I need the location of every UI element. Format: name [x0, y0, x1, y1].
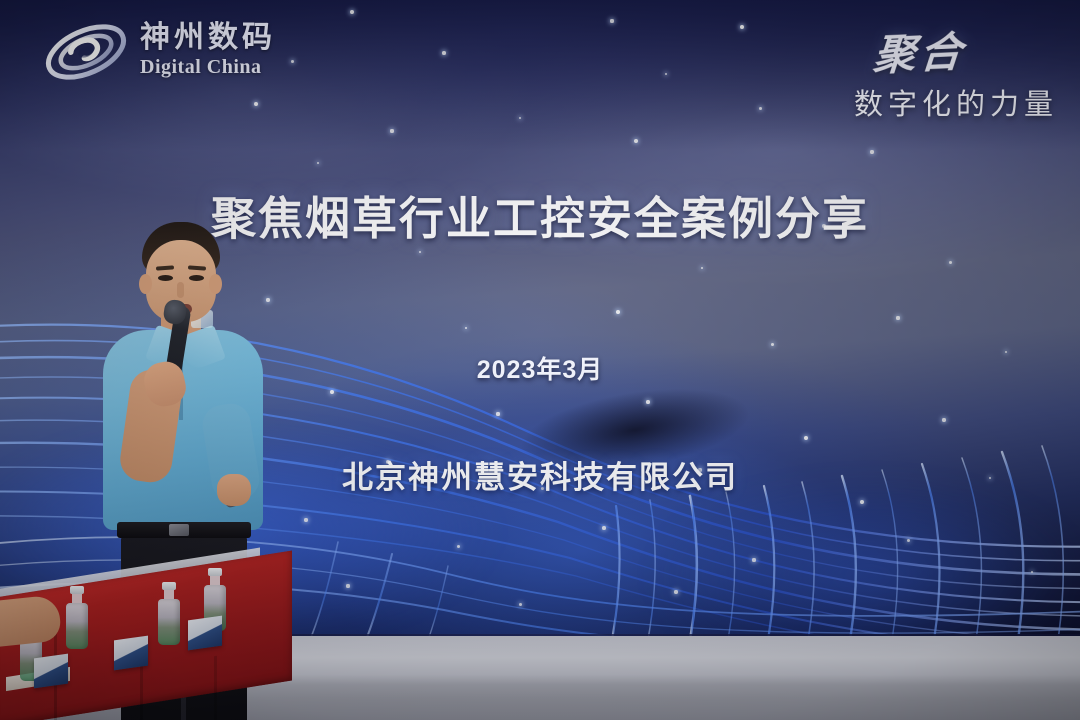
brand-logo: 神州数码 Digital China	[42, 16, 276, 88]
bottle-neck	[210, 576, 220, 585]
brand-name-en: Digital China	[140, 57, 276, 77]
light-particle	[759, 107, 762, 110]
digital-china-swirl-logo	[42, 16, 130, 88]
light-particle	[949, 261, 952, 264]
light-particle	[442, 51, 446, 55]
light-particle	[519, 117, 522, 120]
bottle-cap	[208, 568, 222, 576]
bottle-cap	[70, 586, 84, 594]
speaker-nose	[177, 282, 184, 298]
light-particle	[390, 129, 393, 132]
light-particle	[701, 267, 704, 270]
bottle-neck	[164, 590, 174, 599]
speaker-ear-left	[139, 274, 152, 294]
event-calligraphy: 聚合	[851, 18, 968, 84]
name-card	[114, 636, 148, 671]
light-particle	[350, 10, 354, 14]
event-logo: 聚合 数字化的力量	[854, 18, 1058, 123]
speaker-ear-right	[209, 274, 222, 294]
water-bottle	[66, 586, 88, 649]
event-tagline: 数字化的力量	[854, 81, 1058, 123]
light-particle	[291, 60, 294, 63]
light-particle	[740, 25, 745, 30]
light-particle	[665, 73, 668, 76]
bottle-cap	[162, 582, 176, 590]
brand-name-cn: 神州数码	[140, 23, 276, 53]
bottle-neck	[72, 594, 82, 603]
light-particle	[419, 251, 422, 254]
speaker-belt-buckle	[169, 524, 189, 536]
table-fold	[214, 656, 217, 720]
light-particle	[634, 139, 638, 143]
brand-text: 神州数码 Digital China	[140, 23, 276, 81]
speaker-eye-left	[158, 275, 173, 281]
name-card	[188, 616, 222, 651]
light-particle	[870, 150, 873, 153]
light-particle	[254, 102, 258, 106]
conference-photo: 神州数码 Digital China 聚合 数字化的力量 聚焦烟草行业工控安全案…	[0, 0, 1080, 720]
speaker-right-hand	[217, 474, 251, 506]
bottle-body	[66, 603, 88, 649]
light-particle	[317, 162, 320, 165]
bottle-body	[158, 599, 180, 645]
light-particle	[610, 19, 613, 22]
speaker-eye-right	[189, 275, 204, 281]
name-card	[34, 654, 68, 689]
water-bottle	[158, 582, 180, 645]
